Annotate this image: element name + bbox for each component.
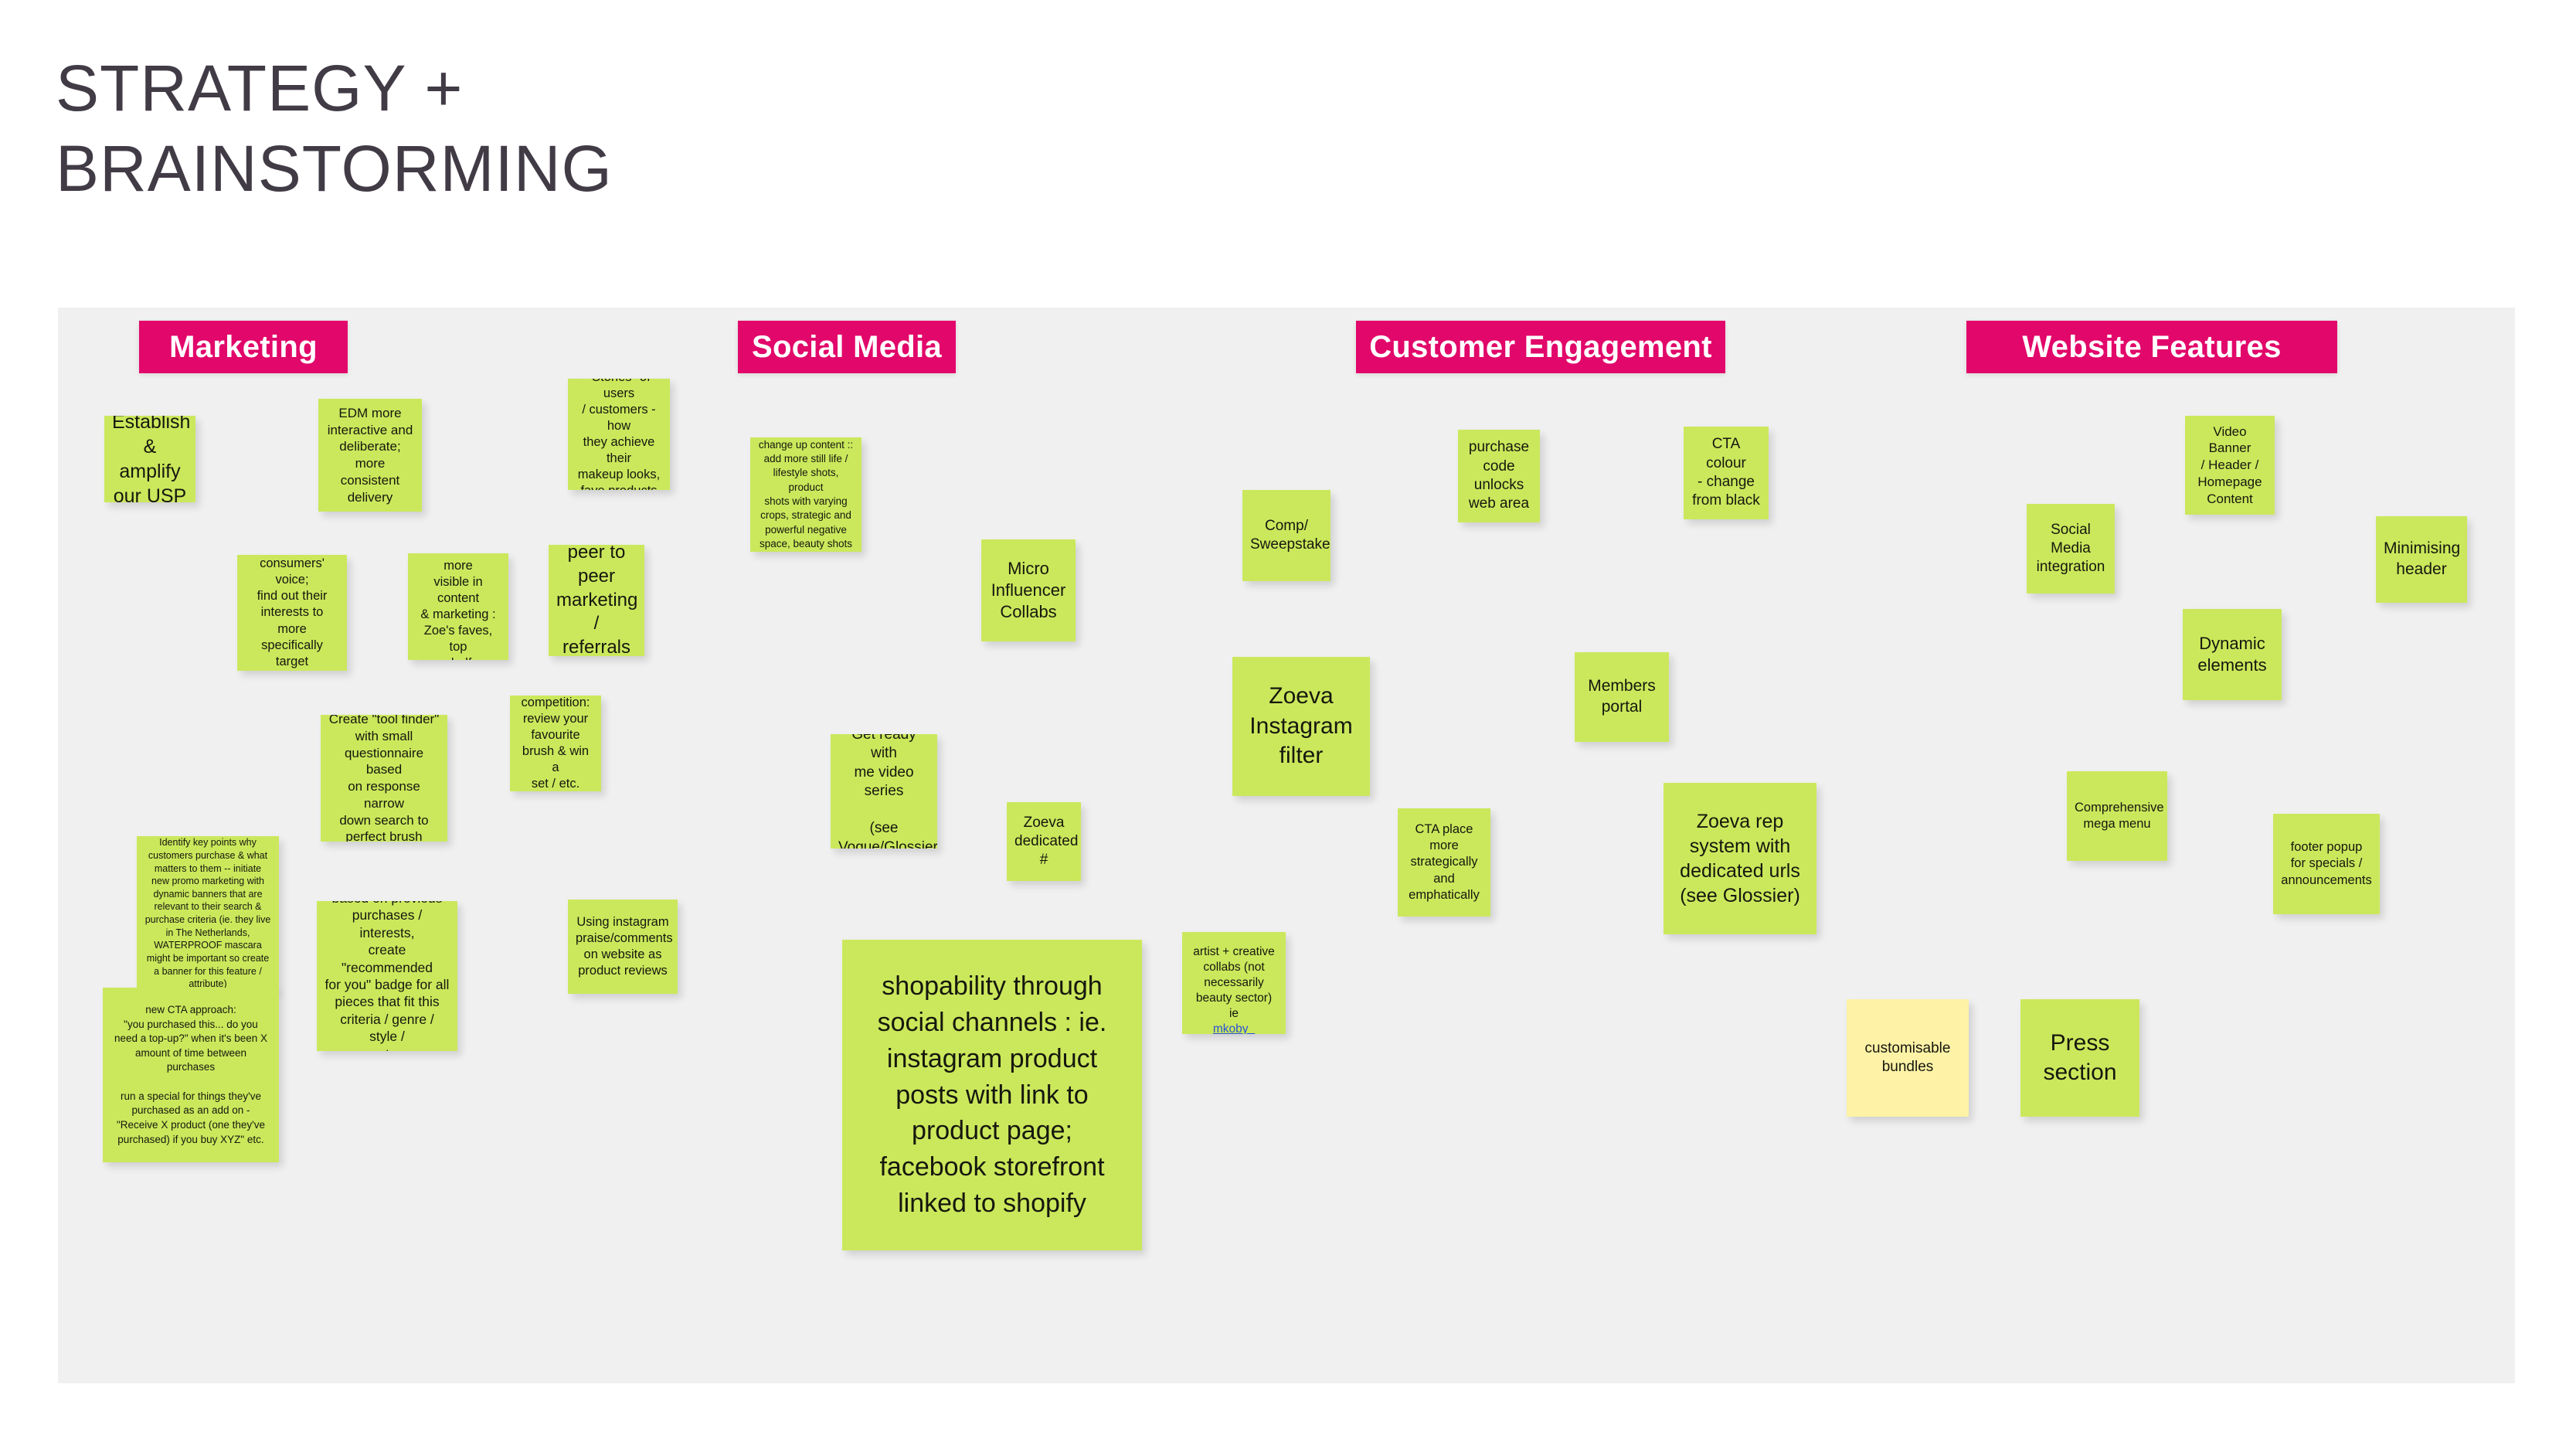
- sticky-note[interactable]: Members portal: [1575, 652, 1669, 742]
- brainstorm-board: Marketing Social Media Customer Engageme…: [58, 308, 2515, 1383]
- column-header-social-media[interactable]: Social Media: [738, 321, 956, 373]
- sticky-note[interactable]: Micro Influencer Collabs: [981, 539, 1076, 641]
- sticky-note[interactable]: based on previous purchases / interests,…: [317, 901, 457, 1051]
- slide-canvas: STRATEGY + BRAINSTORMING Marketing Socia…: [0, 0, 2576, 1449]
- sticky-note[interactable]: Zoeva rep system with dedicated urls (se…: [1664, 783, 1816, 934]
- column-header-label: Website Features: [2022, 330, 2281, 365]
- sticky-note-text: artist + creative collabs (not necessari…: [1193, 945, 1275, 1019]
- sticky-note[interactable]: change up content :: add more still life…: [750, 437, 861, 552]
- sticky-note-text: Identify key points why customers purcha…: [144, 836, 271, 991]
- sticky-note[interactable]: amplify consumers' voice; find out their…: [237, 555, 347, 671]
- sticky-note[interactable]: new CTA approach: "you purchased this...…: [103, 988, 279, 1162]
- sticky-note[interactable]: Identify key points why customers purcha…: [137, 836, 279, 991]
- sticky-note-text: Members portal: [1582, 676, 1661, 718]
- sticky-note[interactable]: "Stories" of users / customers - how the…: [568, 379, 670, 490]
- column-header-label: Marketing: [169, 330, 318, 365]
- sticky-note-text: Minimising header: [2384, 539, 2459, 580]
- sticky-note[interactable]: Comprehensive mega menu: [2067, 771, 2167, 861]
- sticky-note[interactable]: peer to peer marketing / referrals: [549, 545, 644, 656]
- sticky-note-text: shopability through social channels : ie…: [850, 968, 1134, 1222]
- sticky-note-text: Zoeva dedicated #: [1014, 814, 1073, 870]
- sticky-note[interactable]: Make Zoe more visible in content & marke…: [408, 553, 508, 660]
- sticky-note[interactable]: Minimising header: [2376, 516, 2467, 603]
- sticky-note-text: peer to peer marketing / referrals: [556, 545, 637, 656]
- column-header-label: Customer Engagement: [1369, 330, 1712, 365]
- sticky-note[interactable]: footer popup for specials / announcement…: [2273, 814, 2380, 914]
- sticky-note-text: purchase code unlocks web area: [1466, 438, 1532, 513]
- sticky-note[interactable]: Create "tool finder" with small question…: [321, 715, 447, 842]
- sticky-note-text: Zoeva Instagram filter: [1240, 682, 1362, 770]
- sticky-note[interactable]: artist + creative collabs (not necessari…: [1182, 932, 1286, 1034]
- sticky-note[interactable]: Zoeva Instagram filter: [1232, 657, 1370, 796]
- sticky-note[interactable]: Social Media integration: [2027, 504, 2115, 594]
- sticky-note-text: CTA place more strategically and emphati…: [1405, 821, 1483, 903]
- sticky-note[interactable]: Dynamic elements: [2183, 609, 2282, 700]
- sticky-note-text: Video Banner / Header / Homepage Content: [2193, 423, 2267, 508]
- link-mkoby[interactable]: mkoby_: [1213, 1022, 1255, 1034]
- sticky-note-text: based on previous purchases / interests,…: [325, 901, 450, 1051]
- column-header-marketing[interactable]: Marketing: [139, 321, 348, 373]
- sticky-note[interactable]: shopability through social channels : ie…: [842, 940, 1142, 1250]
- sticky-note-text: Press section: [2028, 1029, 2132, 1088]
- sticky-note[interactable]: purchase code unlocks web area: [1458, 430, 1540, 522]
- sticky-note-text: Using instagram praise/comments on websi…: [576, 914, 670, 979]
- sticky-note[interactable]: CTA place more strategically and emphati…: [1398, 808, 1490, 917]
- sticky-note-text: new CTA approach: "you purchased this...…: [110, 1003, 271, 1147]
- column-header-website-features[interactable]: Website Features: [1966, 321, 2337, 373]
- sticky-note-text: "Stories" of users / customers - how the…: [576, 379, 662, 490]
- sticky-note[interactable]: CTA colour - change from black: [1684, 427, 1769, 519]
- sticky-note-text: competition: review your favourite brush…: [518, 696, 593, 791]
- sticky-note[interactable]: EDM more interactive and deliberate; mor…: [318, 399, 422, 512]
- sticky-note-text: Create "tool finder" with small question…: [328, 715, 440, 842]
- sticky-note[interactable]: Get ready with me video series (see Vogu…: [831, 734, 937, 849]
- sticky-note-text: customisable bundles: [1854, 1039, 1961, 1077]
- sticky-note-text: Establish & amplify our USP: [112, 416, 188, 502]
- sticky-note-text: Zoeva rep system with dedicated urls (se…: [1671, 809, 1809, 908]
- sticky-note-text: Comprehensive mega menu: [2075, 800, 2160, 832]
- sticky-note[interactable]: Establish & amplify our USP: [104, 416, 195, 502]
- sticky-note[interactable]: Using instagram praise/comments on websi…: [568, 900, 678, 994]
- sticky-note[interactable]: competition: review your favourite brush…: [510, 696, 601, 791]
- sticky-note-text: change up content :: add more still life…: [758, 438, 854, 552]
- sticky-note[interactable]: Press section: [2020, 999, 2139, 1117]
- sticky-note-text: Social Media integration: [2034, 521, 2107, 577]
- sticky-note-text: Make Zoe more visible in content & marke…: [416, 553, 501, 660]
- sticky-note[interactable]: customisable bundles: [1847, 999, 1969, 1117]
- sticky-note-text: EDM more interactive and deliberate; mor…: [326, 405, 414, 506]
- sticky-note[interactable]: Comp/ Sweepstakes: [1242, 490, 1330, 581]
- column-header-customer-engagement[interactable]: Customer Engagement: [1356, 321, 1725, 373]
- sticky-note-text: footer popup for specials / announcement…: [2281, 839, 2372, 888]
- sticky-note[interactable]: Video Banner / Header / Homepage Content: [2185, 416, 2275, 515]
- column-header-label: Social Media: [752, 330, 942, 365]
- sticky-note-text: Micro Influencer Collabs: [989, 558, 1068, 623]
- sticky-note-text: Get ready with me video series (see Vogu…: [838, 734, 929, 849]
- sticky-note-text: Dynamic elements: [2190, 633, 2274, 676]
- sticky-note[interactable]: Zoeva dedicated #: [1007, 802, 1081, 881]
- sticky-note-text: Comp/ Sweepstakes: [1250, 517, 1323, 555]
- sticky-note-text-with-link: artist + creative collabs (not necessari…: [1190, 932, 1278, 1034]
- sticky-note-text: CTA colour - change from black: [1691, 435, 1761, 510]
- sticky-note-text: amplify consumers' voice; find out their…: [245, 555, 339, 671]
- page-title: STRATEGY + BRAINSTORMING: [56, 48, 983, 209]
